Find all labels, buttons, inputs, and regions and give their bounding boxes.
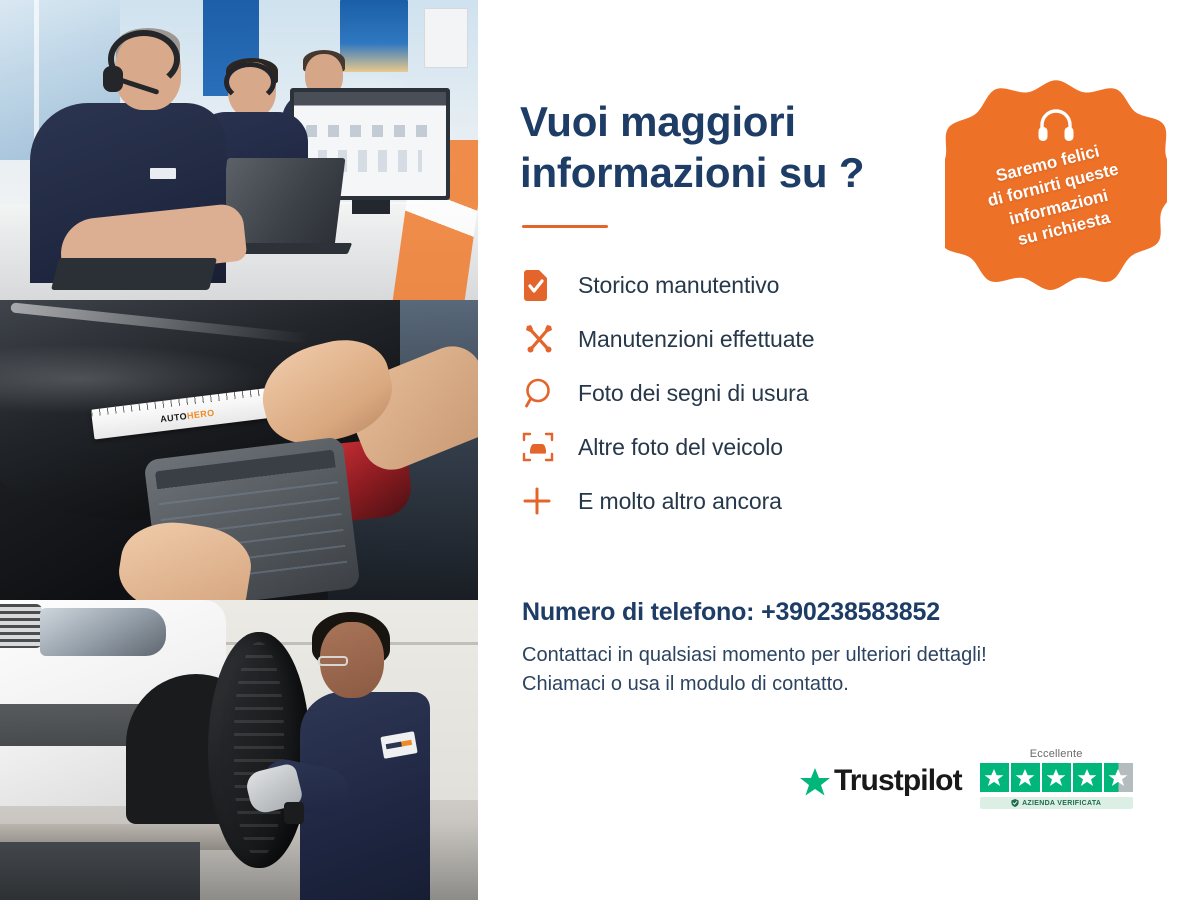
feature-label: Altre foto del veicolo <box>578 434 783 461</box>
verified-business-label: AZIENDA VERIFICATA <box>1022 800 1101 807</box>
content-panel: Vuoi maggiori informazioni su ? Storico … <box>478 0 1200 900</box>
feature-item-molto-altro: E molto altro ancora <box>522 474 1140 528</box>
trustpilot-logo: Trustpilot <box>800 764 962 798</box>
verified-business-badge: AZIENDA VERIFICATA <box>980 797 1133 809</box>
ruler-brand-hero: HERO <box>186 407 215 420</box>
contact-note-line-2: Chiamaci o usa il modulo di contatto. <box>522 673 849 695</box>
star-half-5 <box>1104 763 1133 792</box>
ruler-brand-auto: AUTO <box>160 411 188 424</box>
star-filled-3 <box>1042 763 1071 792</box>
shield-check-icon <box>1011 799 1019 807</box>
phone-line: Numero di telefono: +390238583852 <box>522 598 1140 627</box>
wall-notice-decor <box>424 8 468 68</box>
trustpilot-star-icon <box>800 767 830 796</box>
phone-block: Numero di telefono: +390238583852 Contat… <box>522 598 1140 699</box>
trustpilot-rating-label: Eccellente <box>980 748 1133 760</box>
monitor-stand <box>352 200 390 214</box>
feature-label: E molto altro ancora <box>578 488 782 515</box>
tool-cabinet <box>0 842 200 900</box>
agent-2-headset <box>224 62 276 102</box>
car-headlight <box>40 608 166 656</box>
mechanic-glasses <box>318 656 348 666</box>
feature-label: Manutenzioni effettuate <box>578 326 814 353</box>
tire <box>208 632 310 868</box>
feature-item-foto-segni-usura: Foto dei segni di usura <box>522 366 1140 420</box>
trustpilot-stars <box>980 763 1133 792</box>
call-center-agents-photo <box>0 0 478 300</box>
feature-item-manutenzioni-effettuate: Manutenzioni effettuate <box>522 312 1140 366</box>
vehicle-inspection-photo: AUTOHERO <box>0 300 478 600</box>
headline-line-2: informazioni su ? <box>520 149 864 196</box>
phone-label: Numero di telefono: <box>522 598 754 626</box>
keyboard-decor <box>51 258 217 290</box>
ruler-brand-text: AUTOHERO <box>160 407 215 424</box>
document-check-icon <box>522 268 566 302</box>
agent-1-badge <box>150 168 176 179</box>
star-filled-1 <box>980 763 1009 792</box>
trustpilot-wordmark: Trustpilot <box>834 764 962 798</box>
feature-item-altre-foto-veicolo: Altre foto del veicolo <box>522 420 1140 474</box>
tire-service-photo <box>0 600 478 900</box>
title-divider <box>522 225 608 228</box>
feature-label: Storico manutentivo <box>578 272 779 299</box>
crossed-tools-icon <box>522 322 566 356</box>
phone-number[interactable]: +390238583852 <box>761 598 940 626</box>
page-title: Vuoi maggiori informazioni su ? <box>520 96 950 198</box>
trustpilot-rating[interactable]: Trustpilot Eccellente <box>800 748 1133 809</box>
car-grille <box>0 604 42 648</box>
star-filled-2 <box>1011 763 1040 792</box>
request-info-badge: Saremo felici di fornirti queste informa… <box>945 78 1167 300</box>
mechanic-watch <box>284 802 304 824</box>
trustpilot-score: Eccellente <box>980 748 1133 809</box>
contact-note-line-1: Contattaci in qualsiasi momento per ulte… <box>522 644 987 666</box>
contact-note: Contattaci in qualsiasi momento per ulte… <box>522 641 1140 699</box>
car-scan-icon <box>522 430 566 464</box>
contact-info-banner: AUTOHERO <box>0 0 1200 900</box>
photo-column: AUTOHERO <box>0 0 478 900</box>
plus-icon <box>522 484 566 518</box>
magnifier-icon <box>522 376 566 410</box>
star-filled-4 <box>1073 763 1102 792</box>
feature-label: Foto dei segni di usura <box>578 380 808 407</box>
headline-line-1: Vuoi maggiori <box>520 98 796 145</box>
headset-icon <box>1036 106 1076 149</box>
wall-poster-decor <box>340 0 408 72</box>
